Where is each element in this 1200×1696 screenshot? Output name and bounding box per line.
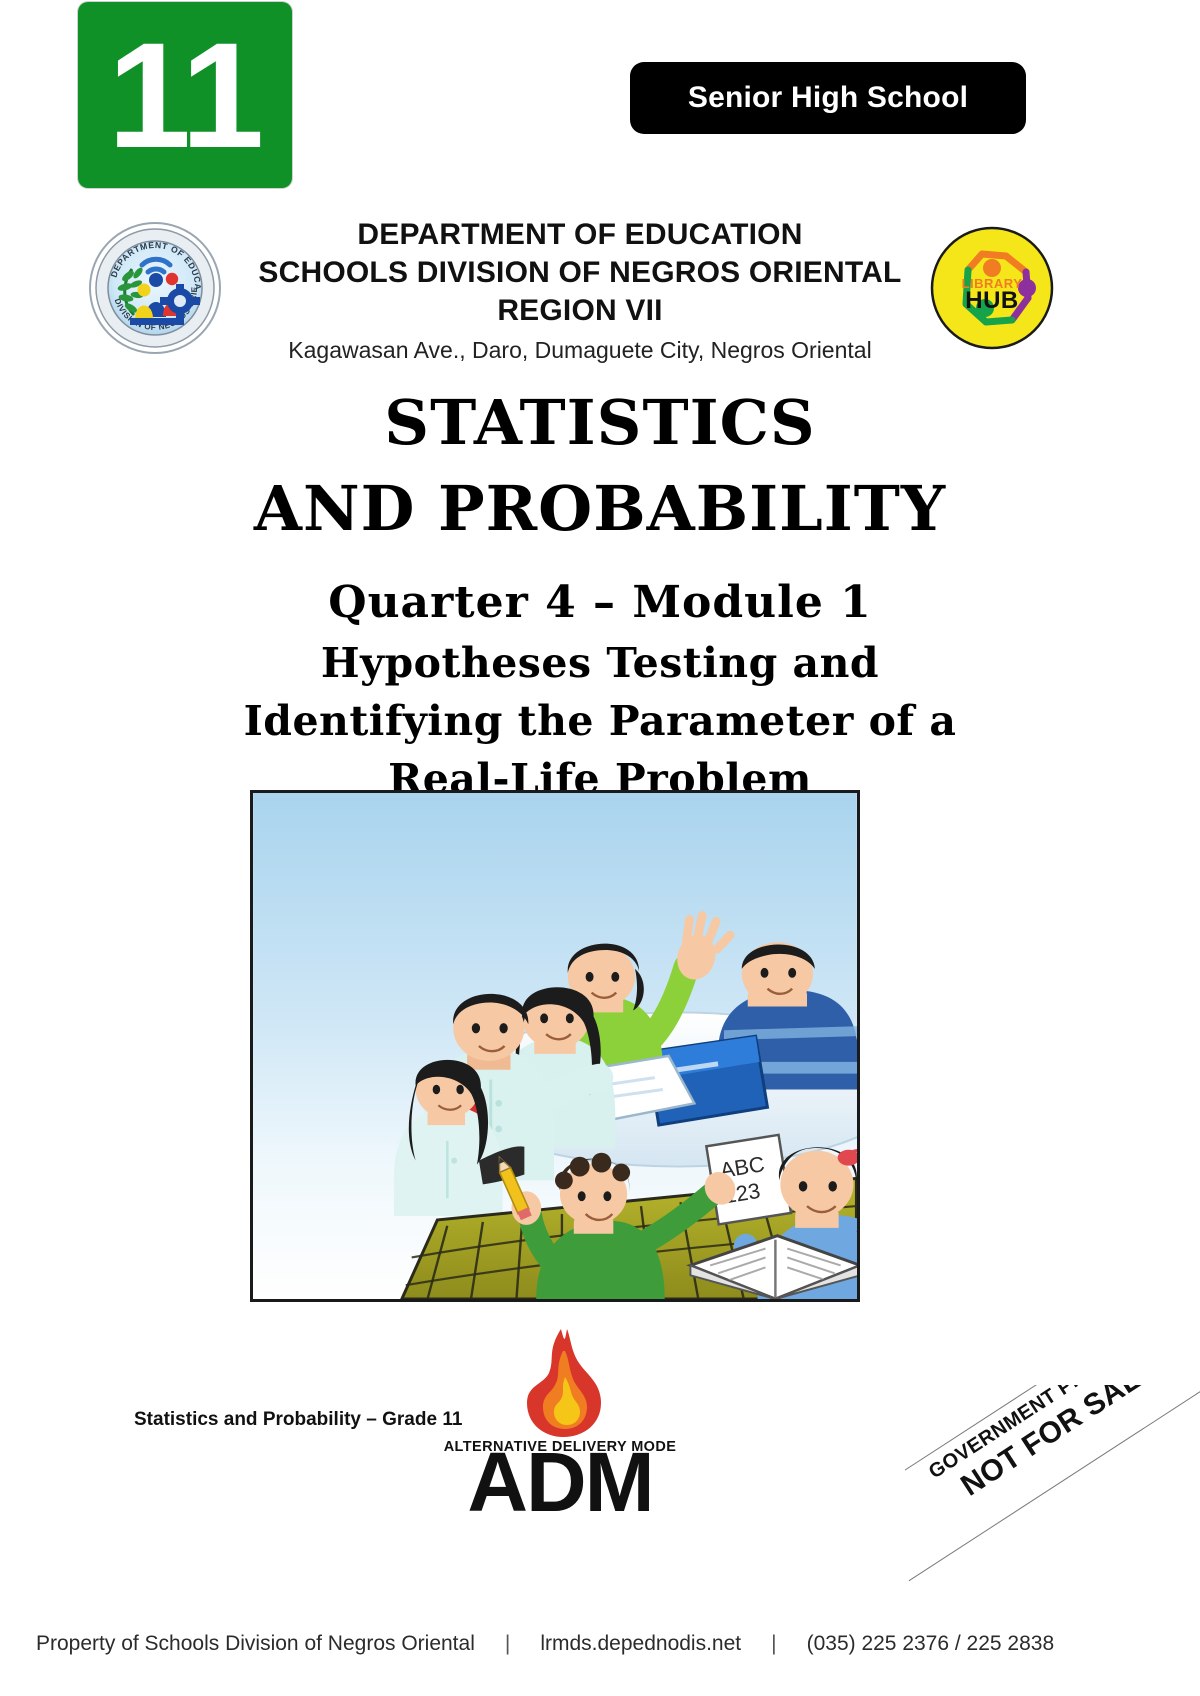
senior-high-school-badge: Senior High School [630,62,1026,134]
grade-level-badge: 11 [78,2,292,188]
cover-title-block: STATISTICS AND PROBABILITY Quarter 4 – M… [0,380,1200,808]
library-hub-seal-icon: LIBRARY HUB [930,226,1054,350]
subject-title-line-2: AND PROBABILITY [0,466,1200,552]
quarter-module-label: Quarter 4 – Module 1 [0,572,1200,634]
grade-level-number: 11 [108,20,263,170]
deped-header-text: DEPARTMENT OF EDUCATION SCHOOLS DIVISION… [230,216,930,367]
module-subject-grade-label: Statistics and Probability – Grade 11 [134,1409,462,1431]
department-header: DEPARTMENT OF EDUCATION DIVISION OF NEGR… [0,216,1200,366]
ribbon-line-1: GOVERNMENT PROPERTY [905,1385,1200,1527]
deped-line-2: SCHOOLS DIVISION OF NEGROS ORIENTAL [230,254,930,292]
flame-icon [527,1329,601,1437]
adm-logo: ALTERNATIVE DELIVERY MODE ADM [415,1325,705,1515]
footer-separator-1: | [475,1632,540,1656]
deped-address: Kagawasan Ave., Daro, Dumaguete City, Ne… [230,333,930,367]
subject-title-line-1: STATISTICS [0,380,1200,466]
svg-text:HUB: HUB [965,287,1019,314]
footer-separator-2: | [741,1632,806,1656]
students-group-study-illustration: ABC 123 [250,790,860,1302]
footer-phone: (035) 225 2376 / 225 2838 [807,1632,1055,1656]
adm-wordmark: ADM [467,1435,652,1515]
module-topic-line-2: Identifying the Parameter of a [0,692,1200,750]
module-topic-line-1: Hypotheses Testing and [0,634,1200,692]
ribbon-line-2: NOT FOR SALE [905,1385,1200,1557]
deped-division-seal-icon: DEPARTMENT OF EDUCATION DIVISION OF NEGR… [88,221,222,355]
government-property-ribbon: GOVERNMENT PROPERTY NOT FOR SALE [905,1385,1200,1615]
deped-line-3: REGION VII [230,292,930,330]
module-cover-page: 11 Senior High School [0,0,1200,1696]
footer-website[interactable]: lrmds.depednodis.net [540,1632,741,1656]
deped-line-1: DEPARTMENT OF EDUCATION [230,216,930,254]
senior-high-school-label: Senior High School [688,81,968,115]
page-footer: Property of Schools Division of Negros O… [0,1632,1200,1656]
footer-owner: Property of Schools Division of Negros O… [36,1632,475,1656]
